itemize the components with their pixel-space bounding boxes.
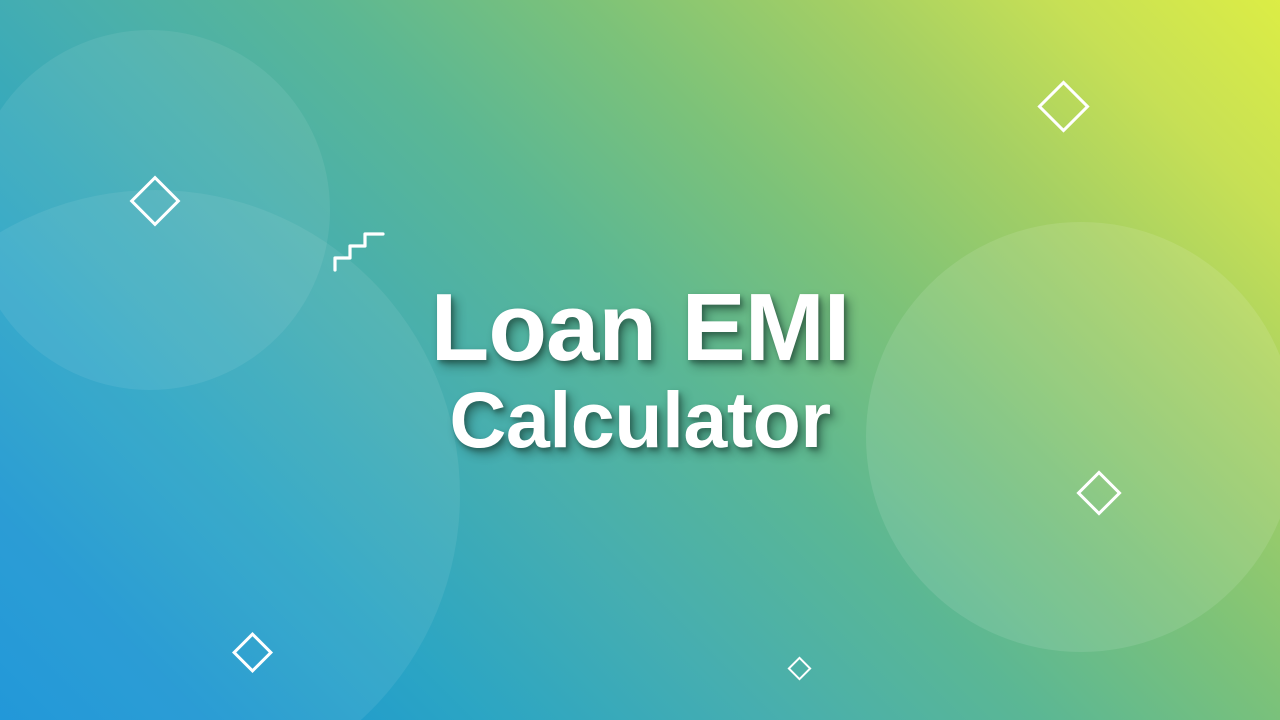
title-block: Loan EMI Calculator: [0, 0, 1280, 720]
slide-canvas: Loan EMI Calculator: [0, 0, 1280, 720]
page-title: Loan EMI: [431, 281, 850, 375]
page-subtitle: Calculator: [449, 380, 830, 459]
